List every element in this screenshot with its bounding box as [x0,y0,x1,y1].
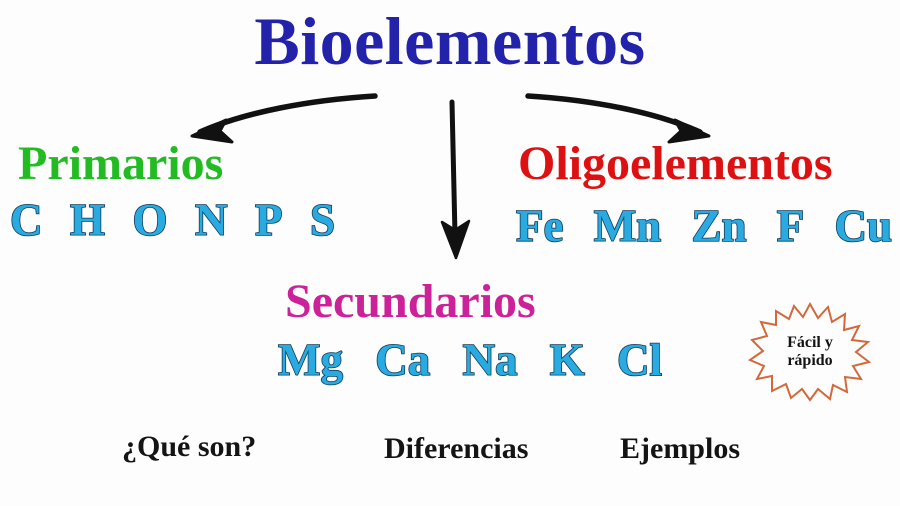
badge-line-1: Fácil y [787,334,833,352]
element-symbol: Mg [278,338,343,383]
element-symbol: Cl [617,338,662,383]
element-symbol: Ca [375,338,430,383]
element-row-primarios: C H O N P S [10,198,335,243]
bottom-label-ejemplos[interactable]: Ejemplos [620,434,740,464]
element-symbol: Mn [594,204,662,249]
curved-arrow-right-icon [528,96,709,142]
bioelementos-diagram: Bioelementos Primarios C H O N P S Oligo… [0,0,900,506]
element-symbol: Fe [516,204,563,249]
page-title: Bioelementos [0,6,900,77]
element-row-secundarios: Mg Ca Na K Cl [278,338,662,383]
category-heading-primarios: Primarios [18,140,223,188]
element-symbol: S [310,198,335,243]
bottom-label-diferencias[interactable]: Diferencias [384,434,528,464]
element-symbol: C [10,198,43,243]
bottom-label-que-son[interactable]: ¿Qué son? [122,432,256,462]
element-symbol: Zn [691,204,746,249]
element-symbol: K [550,338,585,383]
element-row-oligoelementos: Fe Mn Zn F Cu [516,204,892,249]
category-heading-secundarios: Secundarios [285,278,536,326]
arrow-down-icon [442,102,469,258]
element-symbol: H [70,198,105,243]
category-heading-oligoelementos: Oligoelementos [518,140,833,188]
element-symbol: Na [462,338,517,383]
element-symbol: P [255,198,283,243]
element-symbol: Cu [834,204,892,249]
element-symbol: F [777,204,805,249]
badge-line-2: rápido [787,352,832,370]
element-symbol: O [132,198,167,243]
curved-arrow-left-icon [192,96,375,142]
badge-facil-y-rapido: Fácil y rápido [748,300,872,404]
element-symbol: N [195,198,228,243]
